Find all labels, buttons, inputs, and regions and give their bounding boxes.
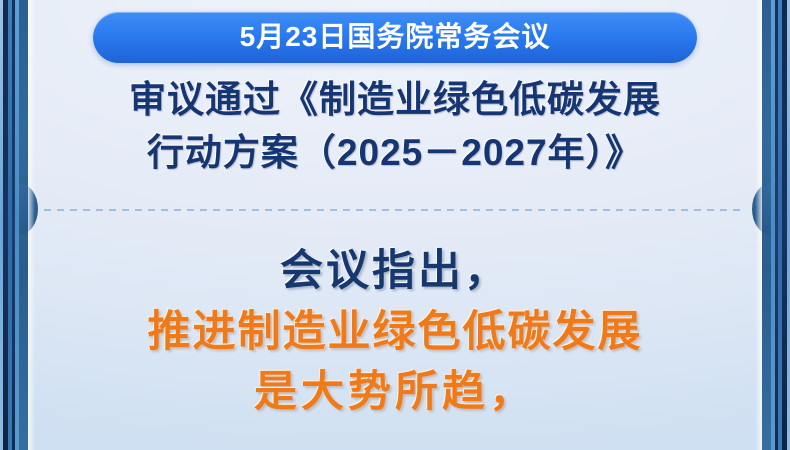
border-stripe-navy bbox=[782, 0, 787, 450]
headline-line-2: 行动方案（2025－2027年）》 bbox=[46, 127, 744, 180]
statement-line-3: 是大势所趋， bbox=[44, 371, 746, 414]
border-stripe-light-blue bbox=[771, 0, 775, 450]
border-stripe-blue bbox=[778, 0, 782, 450]
statement-line-1: 会议指出， bbox=[44, 250, 746, 293]
headline-line-1: 审议通过《制造业绿色低碳发展 bbox=[46, 74, 744, 127]
meeting-date-badge: 5月23日国务院常务会议 bbox=[93, 12, 697, 63]
decorative-right-border bbox=[750, 0, 790, 450]
statement-block: 会议指出， 推进制造业绿色低碳发展 是大势所趋， bbox=[44, 250, 746, 414]
badge-row: 5月23日国务院常务会议 bbox=[0, 12, 790, 63]
section-divider bbox=[44, 209, 746, 211]
page-title: 审议通过《制造业绿色低碳发展 行动方案（2025－2027年）》 bbox=[46, 74, 744, 179]
decorative-left-border bbox=[0, 0, 40, 450]
poster-canvas: 5月23日国务院常务会议 审议通过《制造业绿色低碳发展 行动方案（2025－20… bbox=[0, 0, 790, 450]
statement-line-2: 推进制造业绿色低碳发展 bbox=[44, 311, 746, 354]
border-gloss bbox=[755, 0, 762, 450]
border-gloss bbox=[28, 0, 35, 450]
border-stripe-dark bbox=[775, 0, 778, 450]
